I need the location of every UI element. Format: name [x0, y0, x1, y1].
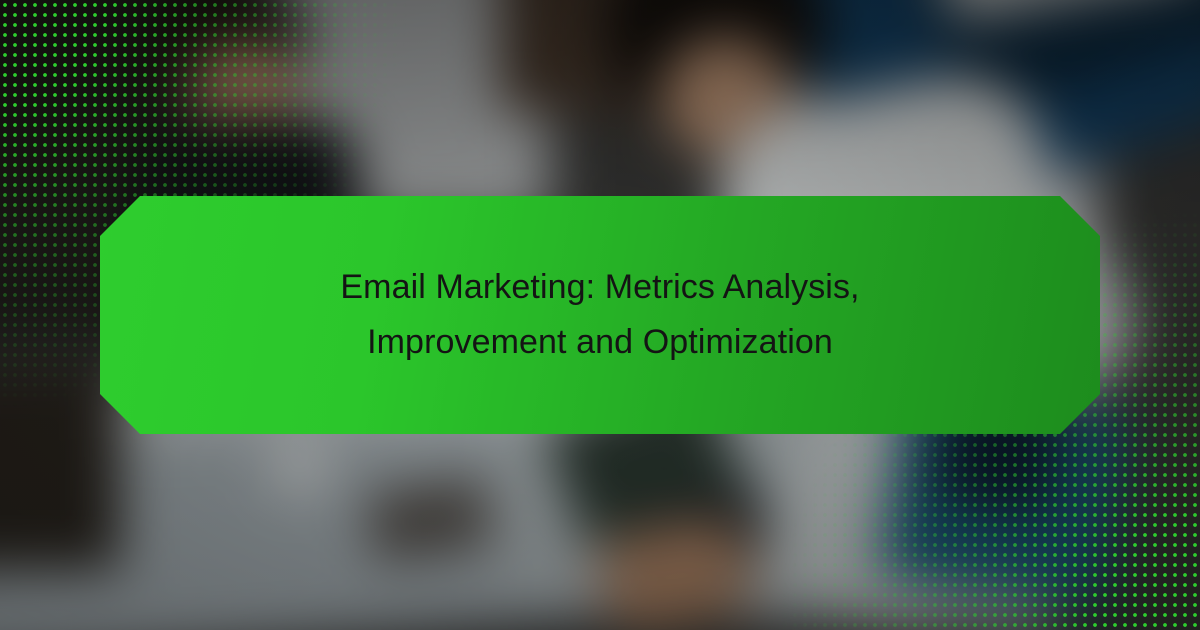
title-banner: Email Marketing: Metrics Analysis, Impro… [100, 196, 1100, 434]
title-line-1: Email Marketing: Metrics Analysis, [340, 260, 859, 315]
page-title: Email Marketing: Metrics Analysis, Impro… [270, 260, 929, 370]
title-line-2: Improvement and Optimization [340, 315, 859, 370]
social-card: Email Marketing: Metrics Analysis, Impro… [0, 0, 1200, 630]
